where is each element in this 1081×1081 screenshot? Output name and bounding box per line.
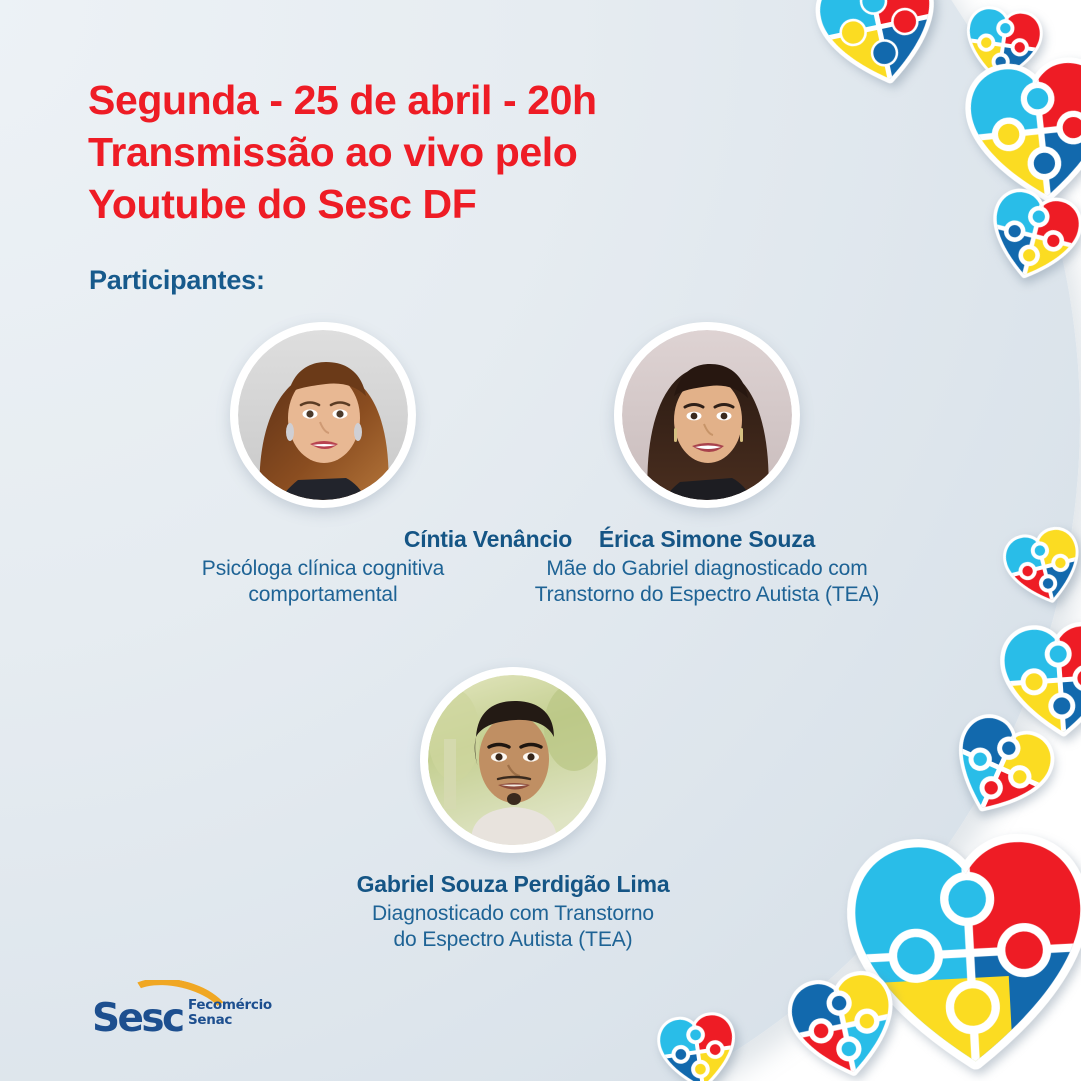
participant-name-2: Érica Simone Souza [447, 526, 967, 553]
portrait-illustration-1 [238, 330, 408, 500]
headline-line-3: Youtube do Sesc DF [88, 178, 788, 230]
avatar [230, 322, 416, 508]
participant-role-3: Diagnosticado com Transtorno do Espectro… [253, 901, 773, 953]
logo-subtext-line-2: Senac [188, 1013, 272, 1028]
participant-card-3: Gabriel Souza Perdigão Lima Diagnosticad… [418, 667, 608, 953]
headline-line-2: Transmissão ao vivo pelo [88, 126, 788, 178]
participant-role-2: Mãe do Gabriel diagnosticado com Transto… [447, 556, 967, 608]
headline-line-1: Segunda - 25 de abril - 20h [88, 74, 788, 126]
headline: Segunda - 25 de abril - 20h Transmissão … [88, 74, 788, 230]
portrait-photo-3 [428, 675, 598, 845]
participant-card-2: Érica Simone Souza Mãe do Gabriel diagno… [612, 322, 802, 608]
portrait-illustration-3 [428, 675, 598, 845]
logo-subtext: Fecomércio Senac [188, 998, 272, 1028]
participant-role-2-line-1: Mãe do Gabriel diagnosticado com [447, 556, 967, 582]
puzzle-heart-icon-10 [653, 1007, 743, 1081]
poster-canvas: Segunda - 25 de abril - 20h Transmissão … [0, 0, 1081, 1081]
participant-name-3: Gabriel Souza Perdigão Lima [253, 871, 773, 898]
avatar [420, 667, 606, 853]
puzzle-heart-icon-9 [780, 962, 908, 1081]
participant-role-3-line-1: Diagnosticado com Transtorno [253, 901, 773, 927]
portrait-photo-2 [622, 330, 792, 500]
portrait-photo-1 [238, 330, 408, 500]
avatar [614, 322, 800, 508]
sesc-logo: Sesc Fecomércio Senac [92, 982, 292, 1038]
participant-role-3-line-2: do Espectro Autista (TEA) [253, 927, 773, 953]
participant-role-2-line-2: Transtorno do Espectro Autista (TEA) [447, 582, 967, 608]
participants-label: Participantes: [89, 265, 265, 296]
logo-wordmark: Sesc [92, 996, 182, 1041]
logo-subtext-line-1: Fecomércio [188, 998, 272, 1013]
participant-card-1: Cíntia Venâncio Psicóloga clínica cognit… [228, 322, 418, 608]
portrait-illustration-2 [622, 330, 792, 500]
